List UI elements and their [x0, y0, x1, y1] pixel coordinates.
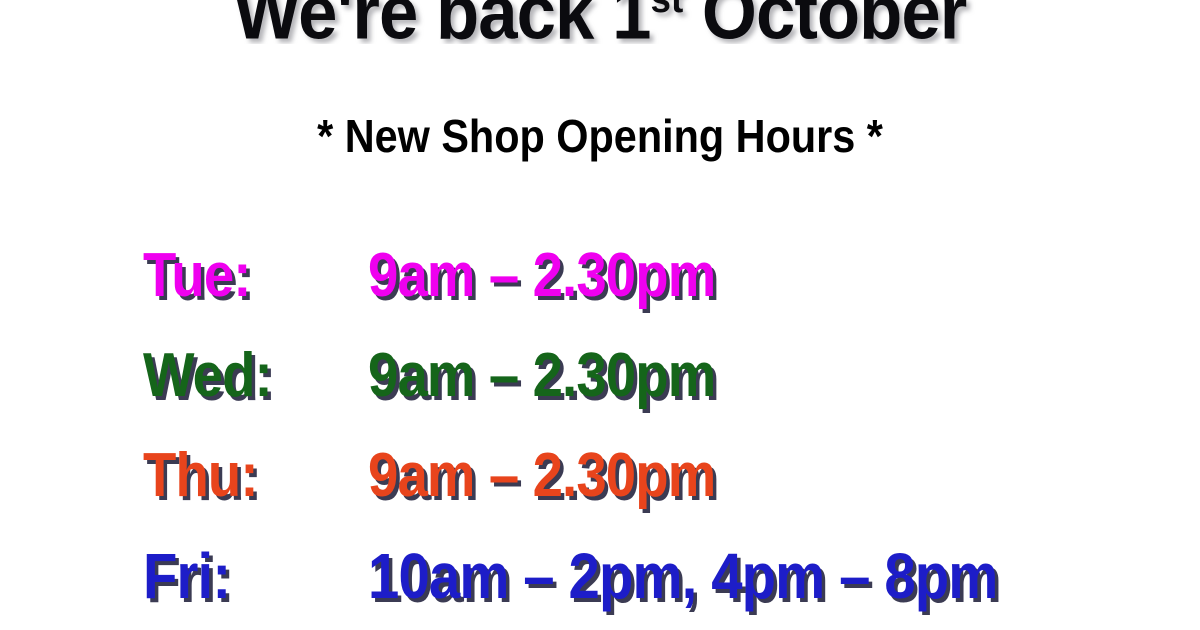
opening-hours-poster: We're back 1st October * New Shop Openin… — [0, 0, 1200, 630]
day-label-wednesday: Wed: — [143, 326, 341, 426]
poster-title-container: We're back 1st October — [0, 0, 1200, 44]
day-label-thursday: Thu: — [143, 426, 341, 526]
poster-title-main: We're back 1 — [234, 0, 651, 44]
day-time-wednesday: 9am – 2.30pm — [368, 326, 715, 426]
opening-hours-row-wednesday: Wed:9am – 2.30pm — [143, 326, 1163, 426]
poster-subtitle: * New Shop Opening Hours * — [60, 108, 1140, 164]
day-time-tuesday: 9am – 2.30pm — [368, 226, 715, 326]
opening-hours-list: Tue:9am – 2.30pm Wed:9am – 2.30pm Thu:9a… — [143, 226, 1163, 626]
poster-title: We're back 1st October — [42, 0, 1158, 44]
day-time-thursday: 9am – 2.30pm — [368, 426, 715, 526]
day-label-friday: Fri: — [143, 526, 341, 626]
opening-hours-row-tuesday: Tue:9am – 2.30pm — [143, 226, 1163, 326]
opening-hours-row-thursday: Thu:9am – 2.30pm — [143, 426, 1163, 526]
day-time-friday: 10am – 2pm, 4pm – 8pm — [368, 526, 998, 626]
poster-title-ordinal-suffix: st — [651, 0, 684, 21]
opening-hours-row-friday: Fri:10am – 2pm, 4pm – 8pm — [143, 526, 1163, 626]
poster-title-month: October — [683, 0, 966, 44]
day-label-tuesday: Tue: — [143, 226, 341, 326]
